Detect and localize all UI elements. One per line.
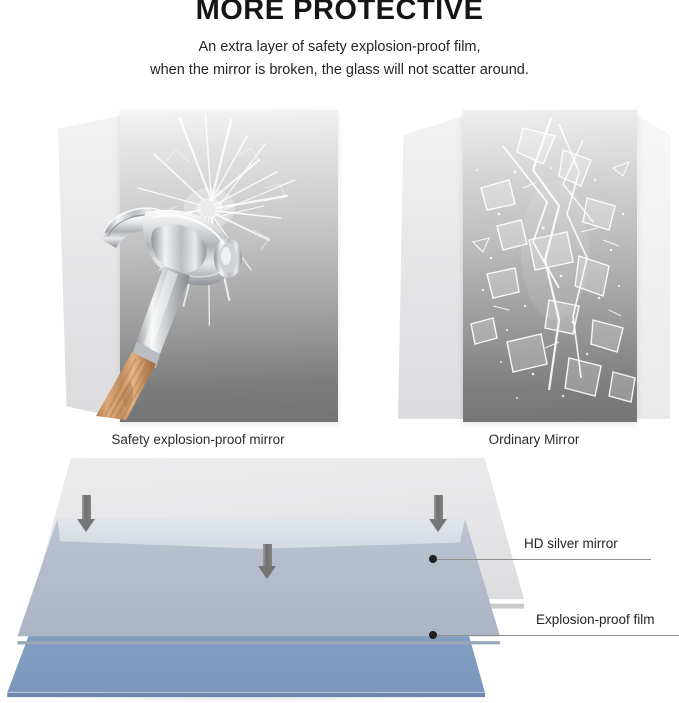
arrow-shaft xyxy=(263,544,272,566)
arrow-head xyxy=(429,519,447,532)
pressure-arrow-center xyxy=(258,544,276,579)
ordinary-mirror-surface xyxy=(463,110,637,422)
comparison-panel-ordinary: Ordinary Mirror xyxy=(398,110,670,422)
callout-line-explosion-proof-film xyxy=(437,635,679,636)
layer-diagram: HD silver mirror Explosion-proof film xyxy=(0,455,679,699)
arrow-shaft xyxy=(82,495,91,519)
subtitle-line-2: when the mirror is broken, the glass wil… xyxy=(0,62,679,78)
pressure-arrow-left xyxy=(77,495,95,532)
pressure-arrow-right xyxy=(429,495,447,532)
callout-dot-hd-silver-mirror xyxy=(429,555,437,563)
hammer-icon xyxy=(86,170,276,420)
arrow-head xyxy=(258,566,276,579)
panel-caption-ordinary: Ordinary Mirror xyxy=(398,432,670,447)
callout-line-hd-silver-mirror xyxy=(437,559,651,560)
callout-dot-explosion-proof-film xyxy=(429,631,437,639)
page-title: MORE PROTECTIVE xyxy=(0,0,679,27)
arrow-shaft xyxy=(434,495,443,519)
shattered-glass-icon xyxy=(463,110,637,422)
comparison-panel-safety: Safety explosion-proof mirror xyxy=(58,110,338,422)
callout-label-hd-silver-mirror: HD silver mirror xyxy=(524,536,618,551)
infographic-root: MORE PROTECTIVE An extra layer of safety… xyxy=(0,0,679,699)
callout-label-explosion-proof-film: Explosion-proof film xyxy=(536,612,655,627)
arrow-head xyxy=(77,519,95,532)
subtitle-line-1: An extra layer of safety explosion-proof… xyxy=(0,39,679,55)
panel-caption-safety: Safety explosion-proof mirror xyxy=(58,432,338,447)
